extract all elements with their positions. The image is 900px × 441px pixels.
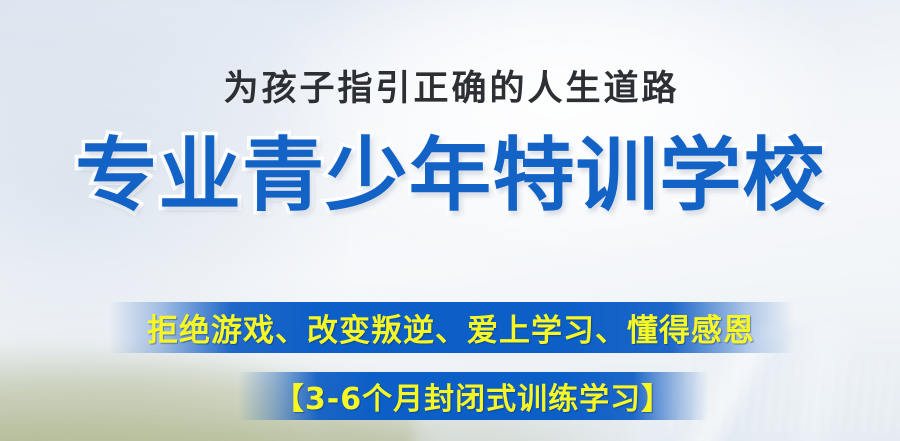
banner-headline: 专业青少年特训学校 <box>75 127 826 225</box>
banner-headline-container: 专业青少年特训学校 <box>0 127 900 227</box>
banner-duration-text: 【3-6个月封闭式训练学习】 <box>274 374 672 418</box>
banner-feature-text: 拒绝游戏、改变叛逆、爱上学习、懂得感恩 <box>147 305 755 350</box>
promo-banner: 为孩子指引正确的人生道路 专业青少年特训学校 拒绝游戏、改变叛逆、爱上学习、懂得… <box>0 0 900 441</box>
banner-tagline: 为孩子指引正确的人生道路 <box>0 71 900 109</box>
banner-duration-band: 【3-6个月封闭式训练学习】 <box>238 372 708 420</box>
banner-feature-band: 拒绝游戏、改变叛逆、爱上学习、懂得感恩 <box>108 302 794 353</box>
banner-content: 为孩子指引正确的人生道路 专业青少年特训学校 拒绝游戏、改变叛逆、爱上学习、懂得… <box>0 0 900 441</box>
